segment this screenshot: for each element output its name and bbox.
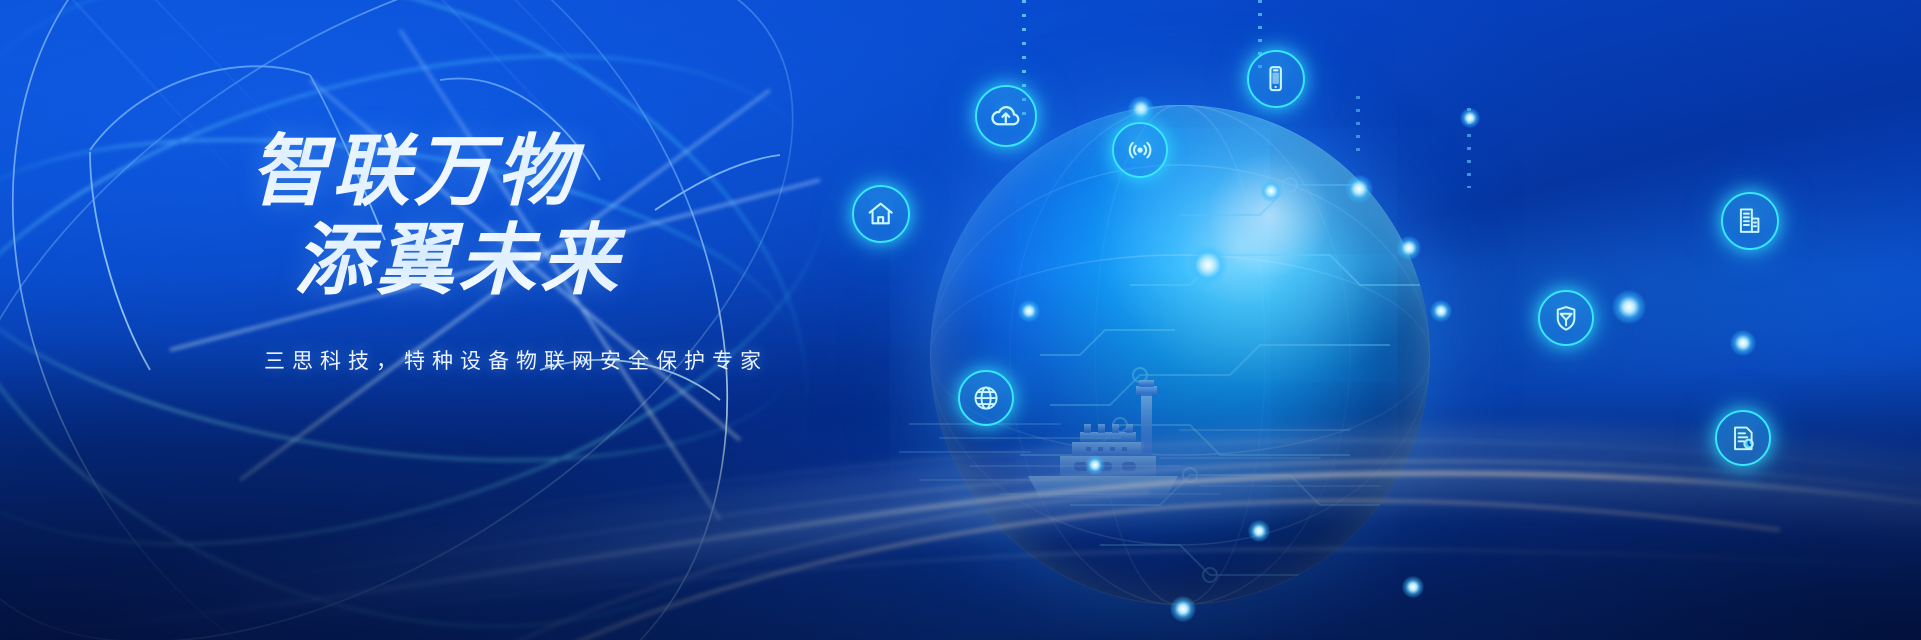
building-icon[interactable]	[1721, 192, 1779, 250]
network-glow-dot	[1612, 290, 1646, 324]
network-glow-dot	[1085, 455, 1105, 475]
network-glow-dot	[1345, 175, 1373, 203]
hero-banner: 智联万物 添翼未来 三思科技，特种设备物联网安全保护专家	[0, 0, 1921, 640]
hero-copy: 智联万物 添翼未来 三思科技，特种设备物联网安全保护专家	[250, 130, 1010, 375]
network-glow-dot	[1430, 300, 1452, 322]
network-glow-dot	[1128, 96, 1154, 122]
network-glow-dot	[1170, 596, 1196, 622]
headline-line-2: 添翼未来	[294, 219, 1010, 302]
network-glow-dot	[1260, 180, 1282, 202]
network-glow-dot	[1460, 108, 1480, 128]
globe-network-icon[interactable]	[958, 370, 1014, 426]
mobile-phone-icon[interactable]	[1247, 50, 1305, 108]
network-glow-dot	[1397, 236, 1421, 260]
signal-broadcast-icon[interactable]	[1112, 122, 1168, 178]
shield-icon[interactable]	[1538, 290, 1594, 346]
headline-line-1: 智联万物	[250, 130, 1010, 213]
vertical-dashed-accent	[1355, 96, 1361, 156]
hero-subtitle: 三思科技，特种设备物联网安全保护专家	[264, 345, 1010, 375]
network-glow-dot	[1018, 300, 1040, 322]
network-glow-dot	[1188, 245, 1228, 285]
document-report-icon[interactable]	[1715, 410, 1771, 466]
network-glow-dot	[1402, 576, 1424, 598]
network-glow-dot	[1730, 330, 1756, 356]
network-glow-dot	[1248, 520, 1270, 542]
